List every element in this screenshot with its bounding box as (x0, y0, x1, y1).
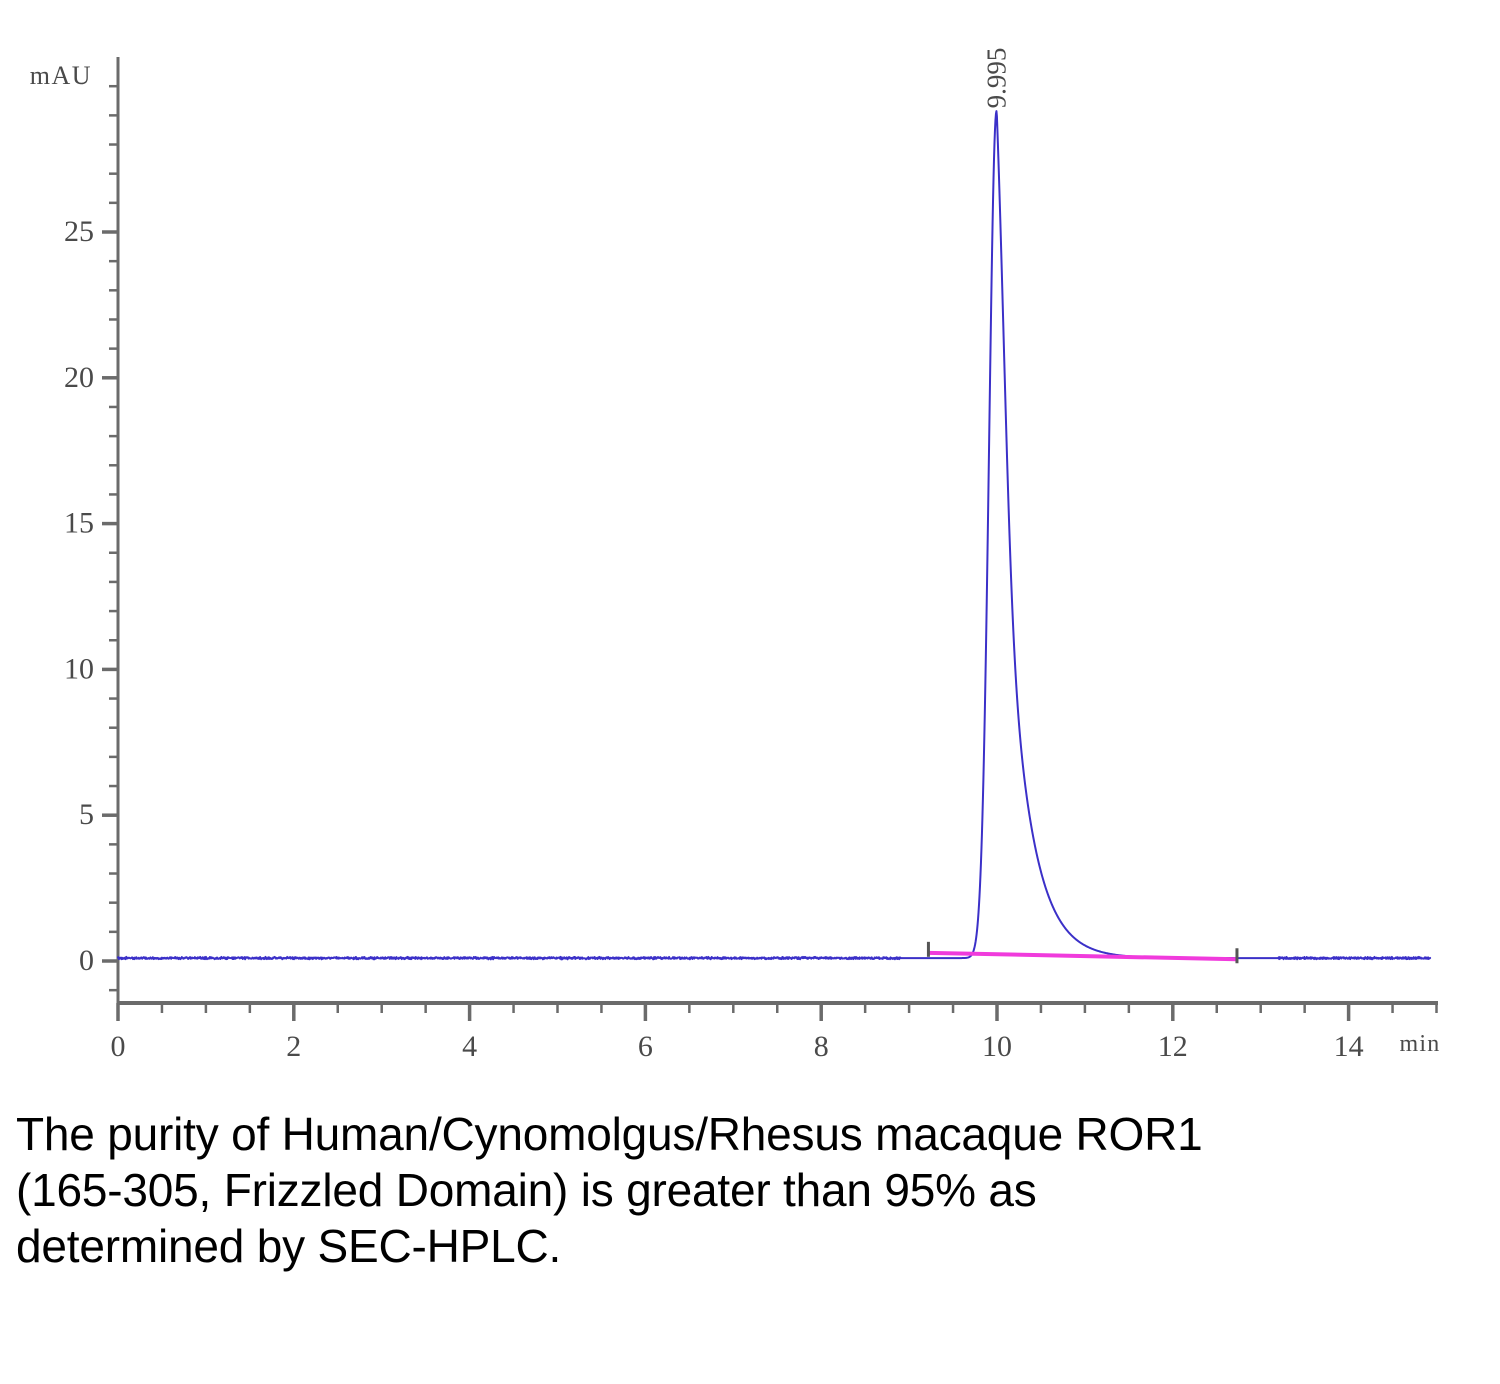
y-axis-unit-label: mAU (30, 61, 92, 90)
chart-canvas: 02468101214 0510152025 mAUmin 9.995 (0, 0, 1500, 1090)
x-axis-unit-label: min (1400, 1031, 1441, 1057)
y-axis-tick-label: 10 (64, 652, 94, 685)
x-axis-tick-label: 2 (286, 1030, 301, 1063)
y-axis-tick-label: 0 (79, 944, 94, 977)
x-axis-tick-label: 0 (111, 1030, 126, 1063)
sec-hplc-chromatogram: 02468101214 0510152025 mAUmin 9.995 (0, 0, 1500, 1090)
integration-baseline-line (928, 953, 1237, 959)
data-trace-group (118, 111, 1430, 959)
peak-retention-time-label: 9.995 (982, 48, 1012, 109)
axes-group (117, 57, 1438, 1003)
y-axis-tick-label: 20 (64, 361, 94, 394)
x-axis-tick-label: 10 (982, 1030, 1012, 1063)
integration-baseline-group (928, 953, 1237, 959)
x-axis-tick-label: 4 (462, 1030, 477, 1063)
x-axis-tick-label: 12 (1158, 1030, 1188, 1063)
chromatogram-page: 02468101214 0510152025 mAUmin 9.995 The … (0, 0, 1500, 1384)
uv-absorbance-trace (118, 111, 1430, 959)
y-axis-tick-label: 15 (64, 507, 94, 540)
annotations-group: 9.995 (982, 48, 1012, 109)
x-axis-tick-label: 14 (1334, 1030, 1364, 1063)
y-axis-tick-label: 25 (64, 215, 94, 248)
axis-labels-group: mAUmin (30, 61, 1441, 1057)
y-axis-tick-label: 5 (79, 798, 94, 831)
x-axis-ticks-group: 02468101214 (111, 1003, 1437, 1063)
figure-caption: The purity of Human/Cynomolgus/Rhesus ma… (16, 1106, 1216, 1274)
x-axis-tick-label: 6 (638, 1030, 653, 1063)
x-axis-tick-label: 8 (814, 1030, 829, 1063)
y-axis-ticks-group: 0510152025 (64, 86, 118, 990)
